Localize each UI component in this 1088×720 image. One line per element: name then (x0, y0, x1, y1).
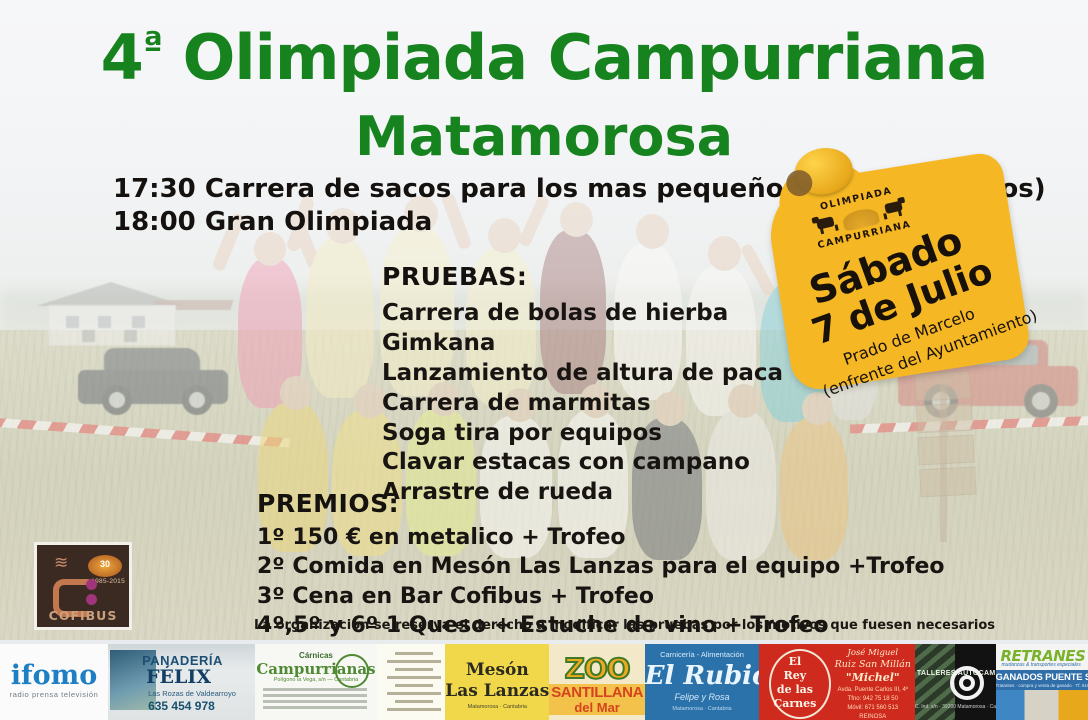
sponsor-name-line3: de las (759, 683, 830, 696)
address-lines (263, 688, 367, 712)
cofibus-name: COFIBUS (37, 608, 129, 623)
title-ordinal-suffix: ª (143, 25, 162, 66)
sponsor-place-line2: del Mar (549, 700, 644, 715)
sponsor-menu-card (377, 644, 445, 720)
schedule-line-2: 18:00 Gran Olimpiada (113, 207, 432, 237)
sponsor-name: ZOO (549, 652, 644, 685)
title-ordinal-number: 4 (101, 21, 143, 94)
sponsor-name: El Rubio (645, 661, 759, 691)
sponsor-el-rey-de-las-carnes: El Rey de las Carnes (759, 644, 830, 720)
sponsor-zoo-santillana: ZOO SANTILLANA del Mar (549, 644, 644, 720)
retranes-tagline: mudanzas & transportes especiales (1002, 662, 1081, 668)
pruebas-heading: PRUEBAS: (382, 262, 783, 291)
prueba-item: Lanzamiento de altura de paca (382, 359, 783, 389)
sponsor-place-line1: SANTILLANA (549, 684, 644, 701)
prueba-item: Carrera de marmitas (382, 389, 783, 419)
sponsor-name-line4: Carnes (759, 697, 830, 710)
sponsor-panaderia-felix: PANADERÍA FÉLIX Las Rozas de Valdearroyo… (108, 644, 255, 720)
sponsor-el-rubio: Carnicería - Alimentación El Rubio Felip… (645, 644, 759, 720)
retranes-logo: RETRANES mudanzas & transportes especial… (996, 644, 1088, 670)
sponsor-name: GANADOS PUENTE S.L. (996, 672, 1088, 683)
premios-heading: PREMIOS: (257, 489, 945, 518)
sponsor-name: FÉLIX (146, 666, 255, 688)
ear-tag-badge: OLIMPIADA CAMPURRIANA Sábado 7 de Julio … (760, 133, 1032, 394)
anniversary-badge: 30 (88, 555, 122, 577)
sponsor-address: C. Ind. s/n · 39200 Matamorosa · Cantabr… (915, 704, 996, 710)
pruebas-list: Carrera de bolas de hierba Gimkana Lanza… (382, 299, 783, 508)
poster-root: 4ª Olimpiada Campurriana Matamorosa 17:3… (0, 0, 1088, 720)
sponsor-meson-las-lanzas: Mesón Las Lanzas Matamorosa · Cantabria (445, 644, 549, 720)
premio-item: 2º Comida en Mesón Las Lanzas para el eq… (257, 552, 945, 581)
premio-item: 1º 150 € en metalico + Trofeo (257, 523, 945, 552)
premio-item: 3º Cena en Bar Cofibus + Trofeo (257, 582, 945, 611)
title-main-text: Olimpiada Campurriana (162, 21, 987, 94)
pruebas-section: PRUEBAS: Carrera de bolas de hierba Gimk… (382, 262, 783, 508)
steam-icon: ≋ (54, 553, 76, 577)
sponsor-strip: ifomo radio prensa televisión PANADERÍA … (0, 644, 1088, 720)
sponsor-name-line2: Rey (759, 669, 830, 682)
sponsor-contact: Avda. Puente Carlos III, 4º Tfno: 942 75… (831, 686, 915, 720)
anniversary-number: 30 (88, 559, 122, 569)
sponsor-category: Carnicería - Alimentación (645, 650, 759, 659)
sponsor-ifomo: ifomo radio prensa televisión (0, 644, 108, 720)
cofibus-dots-icon (86, 579, 98, 605)
sponsor-name: ifomo (0, 660, 108, 691)
sponsor-name-line1: José Miguel (831, 648, 915, 658)
disclaimer-text: La organización se reserva el derecho a … (254, 618, 995, 633)
sponsor-name-line2: Ruiz San Millán (831, 659, 915, 670)
prueba-item: Clavar estacas con campano (382, 448, 783, 478)
sponsor-location: Matamorosa · Cantabria (445, 704, 549, 710)
sponsor-phone: 635 454 978 (148, 699, 255, 713)
sponsor-talleres-autocampoo: TALLERES AUTOCAMPOO C. Ind. s/n · 39200 … (915, 644, 996, 720)
sponsor-address: Matamorosa · Cantabria (645, 706, 759, 712)
page-title: 4ª Olimpiada Campurriana (0, 26, 1088, 89)
sponsor-name-line1: Mesón (445, 660, 549, 680)
sponsor-retranes-ganados-puente: RETRANES mudanzas & transportes especial… (996, 644, 1088, 720)
sponsor-name-line2: Las Lanzas (445, 681, 549, 701)
sponsor-michel: José Miguel Ruiz San Millán "Michel" Avd… (831, 644, 915, 720)
sponsor-carnicas-campurrianas: Cárnicas Campurrianas Polígono la Vega, … (255, 644, 378, 720)
sponsor-owners: Felipe y Rosa (645, 692, 759, 702)
sponsor-tagline: Tratantes · compra y venta de ganado · T… (996, 683, 1088, 688)
sponsor-name-line1: El (759, 655, 830, 668)
prueba-item: Gimkana (382, 329, 783, 359)
prueba-item: Carrera de bolas de hierba (382, 299, 783, 329)
machinery-photo (996, 690, 1088, 720)
cofibus-logo: ≋ 30 1985-2015 COFIBUS (34, 542, 132, 630)
sponsor-nickname: "Michel" (831, 671, 915, 684)
prueba-item: Soga tira por equipos (382, 419, 783, 449)
menu-card-lines (387, 652, 441, 716)
sponsor-tagline: radio prensa televisión (0, 690, 108, 699)
sponsor-location: Las Rozas de Valdearroyo (148, 689, 255, 698)
gear-icon (950, 666, 984, 700)
